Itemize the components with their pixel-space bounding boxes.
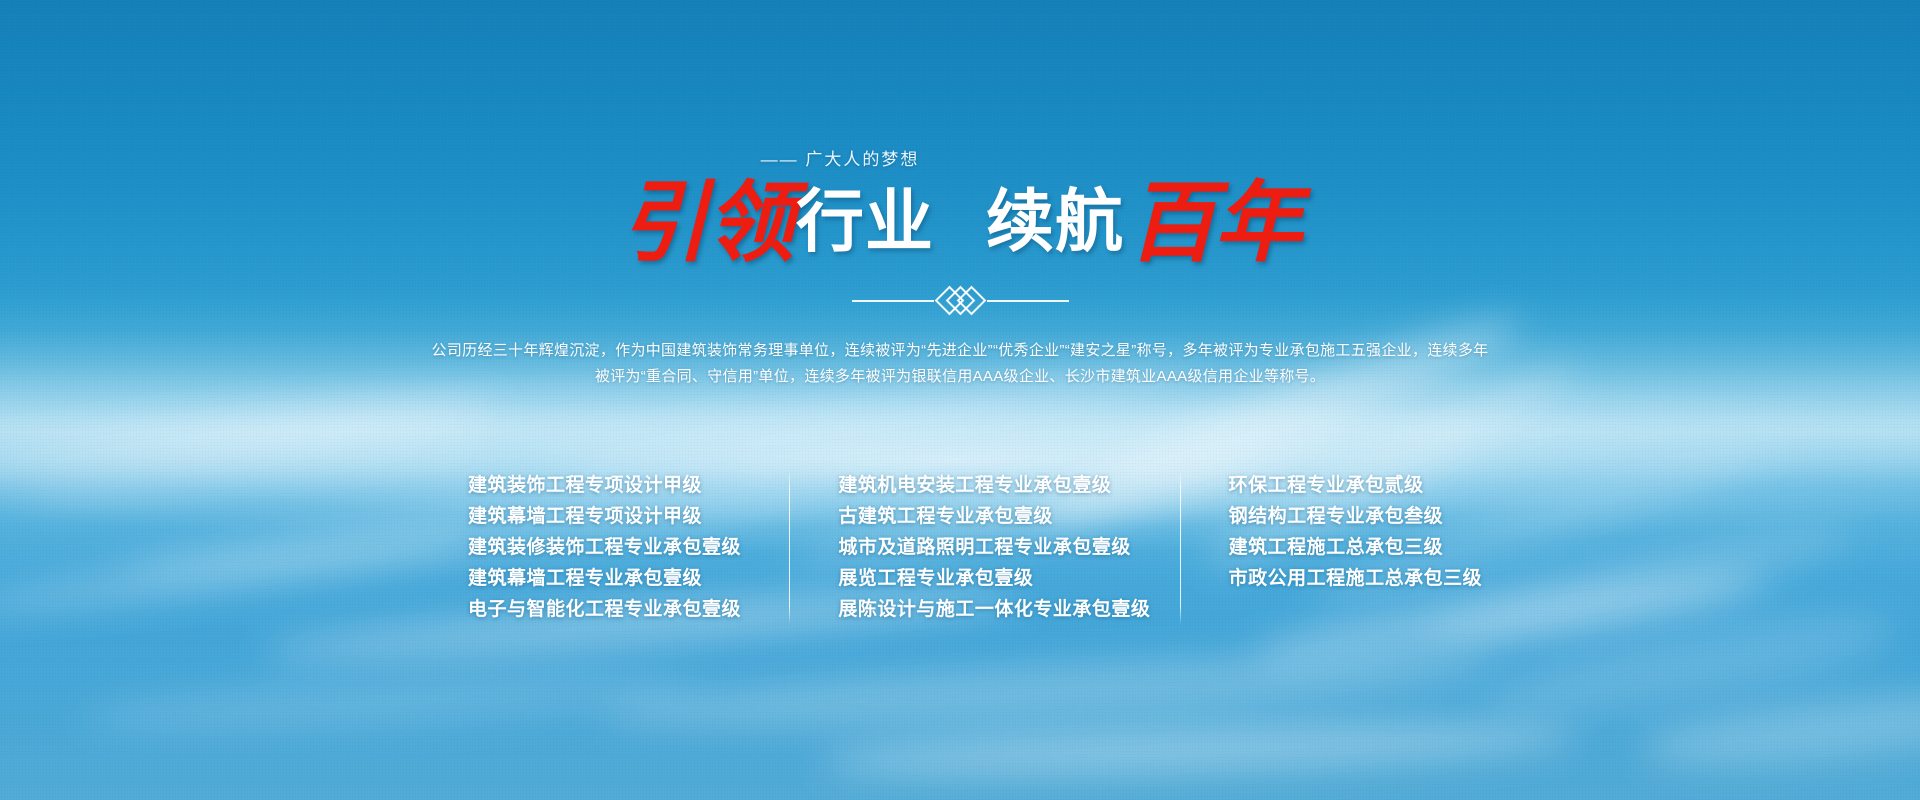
headline-part-century: 百年	[1128, 170, 1300, 274]
qualification-column-2: 建筑机电安装工程专业承包壹级 古建筑工程专业承包壹级 城市及道路照明工程专业承包…	[790, 470, 1179, 625]
qualification-list: 建筑装饰工程专项设计甲级 建筑幕墙工程专项设计甲级 建筑装修装饰工程专业承包壹级…	[420, 470, 1500, 625]
eyebrow-tagline: —— 广大人的梦想	[0, 145, 1800, 170]
divider-diamonds	[944, 290, 977, 311]
hero-banner: —— 广大人的梦想 引领行业续航百年 公司历经三十年辉煌沉淀，作为中国建筑装饰常…	[0, 0, 1920, 800]
qualification-item: 环保工程专业承包贰级	[1229, 470, 1500, 501]
headline-part-lead: 引领	[620, 170, 792, 274]
qualification-item: 建筑幕墙工程专业承包壹级	[468, 563, 789, 594]
qualification-item: 钢结构工程专业承包叁级	[1229, 501, 1500, 532]
qualification-item: 展览工程专业承包壹级	[838, 563, 1179, 594]
qualification-item: 电子与智能化工程专业承包壹级	[468, 594, 789, 625]
qualification-item: 建筑工程施工总承包三级	[1229, 532, 1500, 563]
qualification-item: 城市及道路照明工程专业承包壹级	[838, 532, 1179, 563]
qualification-column-1: 建筑装饰工程专项设计甲级 建筑幕墙工程专项设计甲级 建筑装修装饰工程专业承包壹级…	[420, 470, 789, 625]
qualification-item: 建筑装修装饰工程专业承包壹级	[468, 532, 789, 563]
qualification-item: 建筑机电安装工程专业承包壹级	[838, 470, 1179, 501]
qualification-item: 古建筑工程专业承包壹级	[838, 501, 1179, 532]
diamond-divider	[0, 290, 1920, 311]
banner-content: —— 广大人的梦想 引领行业续航百年 公司历经三十年辉煌沉淀，作为中国建筑装饰常…	[0, 0, 1920, 800]
headline: 引领行业续航百年	[0, 178, 1920, 266]
headline-part-industry: 行业	[792, 184, 938, 260]
qualification-item: 市政公用工程施工总承包三级	[1229, 563, 1500, 594]
company-description-paragraph: 公司历经三十年辉煌沉淀，作为中国建筑装饰常务理事单位，连续被评为“先进企业”“优…	[430, 338, 1490, 390]
qualification-item: 展陈设计与施工一体化专业承包壹级	[838, 594, 1179, 625]
divider-line-left	[852, 300, 934, 302]
qualification-item: 建筑幕墙工程专项设计甲级	[468, 501, 789, 532]
headline-part-endurance: 续航	[982, 184, 1128, 260]
divider-line-right	[987, 300, 1069, 302]
qualification-item: 建筑装饰工程专项设计甲级	[468, 470, 789, 501]
qualification-column-3: 环保工程专业承包贰级 钢结构工程专业承包叁级 建筑工程施工总承包三级 市政公用工…	[1181, 470, 1500, 594]
